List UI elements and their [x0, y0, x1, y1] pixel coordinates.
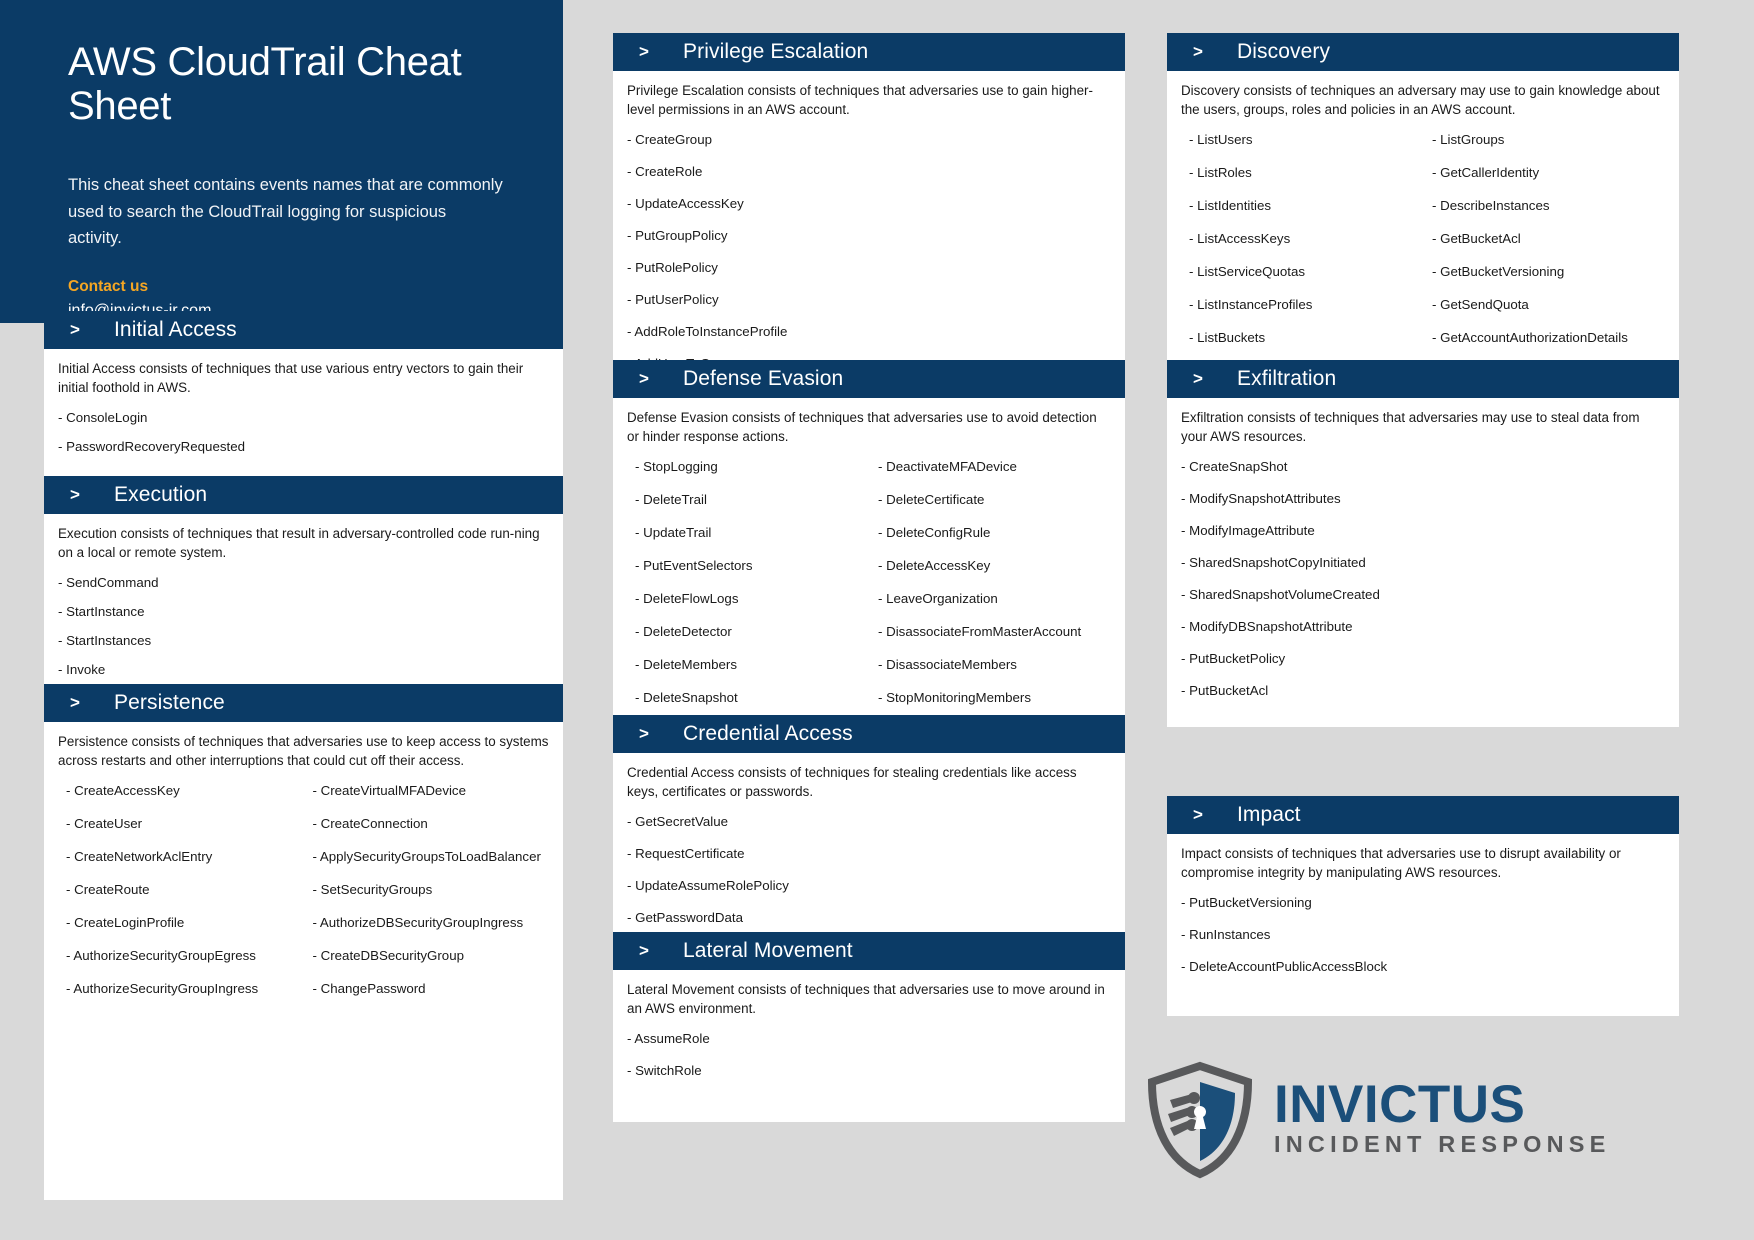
list-item: - GetBucketAcl [1432, 231, 1665, 247]
list-item: - CreateSnapShot [1181, 459, 1665, 475]
card-title-execution: Execution [114, 483, 207, 507]
list-item: - CreateVirtualMFADevice [313, 783, 550, 799]
card-description-persistence: Persistence consists of techniques that … [58, 732, 549, 771]
card-description-defense-evasion: Defense Evasion consists of techniques t… [627, 408, 1111, 447]
header-panel: AWS CloudTrail Cheat Sheet This cheat sh… [0, 0, 563, 323]
card-header-execution[interactable]: > Execution [44, 476, 563, 514]
event-list-exfiltration: - CreateSnapShot - ModifySnapshotAttribu… [1181, 459, 1665, 699]
card-lateral-movement: > Lateral Movement Lateral Movement cons… [613, 932, 1125, 1122]
chevron-right-icon: > [70, 485, 114, 505]
card-description-discovery: Discovery consists of techniques an adve… [1181, 81, 1665, 120]
list-item: - GetSendQuota [1432, 297, 1665, 313]
list-item: - DeleteFlowLogs [635, 591, 868, 607]
chevron-right-icon: > [1193, 42, 1237, 62]
card-title-defense-evasion: Defense Evasion [683, 367, 843, 391]
card-description-initial-access: Initial Access consists of techniques th… [58, 359, 549, 398]
chevron-right-icon: > [639, 941, 683, 961]
list-item: - DeleteSnapshot [635, 690, 868, 706]
event-list-execution: - SendCommand - StartInstance - StartIns… [58, 575, 549, 678]
card-description-credential-access: Credential Access consists of techniques… [627, 763, 1111, 802]
list-item: - PutUserPolicy [627, 292, 1111, 308]
logo-tagline: INCIDENT RESPONSE [1274, 1130, 1611, 1159]
logo-text: INVICTUS INCIDENT RESPONSE [1274, 1080, 1611, 1160]
card-header-impact[interactable]: > Impact [1167, 796, 1679, 834]
list-item: - CreateConnection [313, 816, 550, 832]
card-header-discovery[interactable]: > Discovery [1167, 33, 1679, 71]
list-item: - ListServiceQuotas [1189, 264, 1422, 280]
list-item: - PutGroupPolicy [627, 228, 1111, 244]
card-header-persistence[interactable]: > Persistence [44, 684, 563, 722]
list-item: - PutBucketVersioning [1181, 895, 1665, 911]
card-body-execution: Execution consists of techniques that re… [44, 514, 563, 703]
card-body-impact: Impact consists of techniques that adver… [1167, 834, 1679, 1003]
card-description-privilege-escalation: Privilege Escalation consists of techniq… [627, 81, 1111, 120]
list-item: - CreateDBSecurityGroup [313, 948, 550, 964]
list-item: - DeactivateMFADevice [878, 459, 1111, 475]
list-item: - PutBucketAcl [1181, 683, 1665, 699]
card-description-lateral-movement: Lateral Movement consists of techniques … [627, 980, 1111, 1019]
list-item: - AssumeRole [627, 1031, 1111, 1047]
list-item: - GetAccountAuthorizationDetails [1432, 330, 1665, 346]
list-item: - CreateLoginProfile [66, 915, 303, 931]
list-item: - DeleteMembers [635, 657, 868, 673]
card-header-credential-access[interactable]: > Credential Access [613, 715, 1125, 753]
card-body-defense-evasion: Defense Evasion consists of techniques t… [613, 398, 1125, 735]
cheat-sheet-page: AWS CloudTrail Cheat Sheet This cheat sh… [0, 0, 1754, 1240]
list-item: - UpdateAssumeRolePolicy [627, 878, 1111, 894]
card-privilege-escalation: > Privilege Escalation Privilege Escalat… [613, 33, 1125, 400]
card-initial-access: > Initial Access Initial Access consists… [44, 311, 563, 480]
event-list-discovery: - ListUsers - ListRoles - ListIdentities… [1181, 132, 1665, 363]
event-list-persistence: - CreateAccessKey - CreateUser - CreateN… [58, 783, 549, 1014]
card-header-defense-evasion[interactable]: > Defense Evasion [613, 360, 1125, 398]
card-title-persistence: Persistence [114, 691, 225, 715]
card-title-exfiltration: Exfiltration [1237, 367, 1336, 391]
card-body-persistence: Persistence consists of techniques that … [44, 722, 563, 1026]
list-item: - StartInstances [58, 633, 549, 649]
list-item: - SharedSnapshotCopyInitiated [1181, 555, 1665, 571]
list-item: - CreateNetworkAclEntry [66, 849, 303, 865]
list-item: - DeleteTrail [635, 492, 868, 508]
list-item: - ConsoleLogin [58, 410, 549, 426]
card-body-initial-access: Initial Access consists of techniques th… [44, 349, 563, 480]
card-body-lateral-movement: Lateral Movement consists of techniques … [613, 970, 1125, 1107]
list-item: - DescribeInstances [1432, 198, 1665, 214]
list-item: - CreateRole [627, 164, 1111, 180]
list-item: - UpdateAccessKey [627, 196, 1111, 212]
list-item: - RunInstances [1181, 927, 1665, 943]
list-item: - ListUsers [1189, 132, 1422, 148]
list-item: - StartInstance [58, 604, 549, 620]
card-body-discovery: Discovery consists of techniques an adve… [1167, 71, 1679, 375]
list-item: - ChangePassword [313, 981, 550, 997]
list-item: - GetSecretValue [627, 814, 1111, 830]
list-item: - ListAccessKeys [1189, 231, 1422, 247]
card-persistence: > Persistence Persistence consists of te… [44, 684, 563, 1200]
event-list-privilege-escalation: - CreateGroup - CreateRole - UpdateAcces… [627, 132, 1111, 372]
card-body-privilege-escalation: Privilege Escalation consists of techniq… [613, 71, 1125, 400]
invictus-logo: INVICTUS INCIDENT RESPONSE [1140, 1060, 1680, 1180]
list-item: - SharedSnapshotVolumeCreated [1181, 587, 1665, 603]
event-list-lateral-movement: - AssumeRole - SwitchRole [627, 1031, 1111, 1079]
list-item: - DeleteAccessKey [878, 558, 1111, 574]
chevron-right-icon: > [639, 369, 683, 389]
card-title-impact: Impact [1237, 803, 1301, 827]
list-item: - GetBucketVersioning [1432, 264, 1665, 280]
card-description-execution: Execution consists of techniques that re… [58, 524, 549, 563]
list-item: - ModifySnapshotAttributes [1181, 491, 1665, 507]
list-item: - DeleteDetector [635, 624, 868, 640]
card-title-lateral-movement: Lateral Movement [683, 939, 853, 963]
list-item: - ModifyDBSnapshotAttribute [1181, 619, 1665, 635]
list-item: - SetSecurityGroups [313, 882, 550, 898]
list-item: - AuthorizeDBSecurityGroupIngress [313, 915, 550, 931]
event-list-impact: - PutBucketVersioning - RunInstances - D… [1181, 895, 1665, 975]
card-title-discovery: Discovery [1237, 40, 1330, 64]
card-discovery: > Discovery Discovery consists of techni… [1167, 33, 1679, 375]
list-item: - AuthorizeSecurityGroupEgress [66, 948, 303, 964]
card-title-privilege-escalation: Privilege Escalation [683, 40, 868, 64]
card-description-exfiltration: Exfiltration consists of techniques that… [1181, 408, 1665, 447]
list-item: - CreateGroup [627, 132, 1111, 148]
card-title-credential-access: Credential Access [683, 722, 853, 746]
chevron-right-icon: > [639, 42, 683, 62]
chevron-right-icon: > [639, 724, 683, 744]
page-title: AWS CloudTrail Cheat Sheet [68, 40, 503, 128]
list-item: - SwitchRole [627, 1063, 1111, 1079]
list-item: - GetCallerIdentity [1432, 165, 1665, 181]
list-item: - Invoke [58, 662, 549, 678]
card-execution: > Execution Execution consists of techni… [44, 476, 563, 703]
card-header-privilege-escalation[interactable]: > Privilege Escalation [613, 33, 1125, 71]
chevron-right-icon: > [70, 320, 114, 340]
list-item: - CreateRoute [66, 882, 303, 898]
list-item: - DeleteAccountPublicAccessBlock [1181, 959, 1665, 975]
event-list-initial-access: - ConsoleLogin - PasswordRecoveryRequest… [58, 410, 549, 455]
list-item: - PasswordRecoveryRequested [58, 439, 549, 455]
list-item: - StopMonitoringMembers [878, 690, 1111, 706]
card-header-lateral-movement[interactable]: > Lateral Movement [613, 932, 1125, 970]
list-item: - DeleteCertificate [878, 492, 1111, 508]
list-item: - DeleteConfigRule [878, 525, 1111, 541]
shield-icon [1140, 1060, 1260, 1180]
list-item: - ApplySecurityGroupsToLoadBalancer [313, 849, 550, 865]
list-item: - AddRoleToInstanceProfile [627, 324, 1111, 340]
chevron-right-icon: > [1193, 805, 1237, 825]
card-header-initial-access[interactable]: > Initial Access [44, 311, 563, 349]
list-item: - CreateUser [66, 816, 303, 832]
logo-name: INVICTUS [1274, 1080, 1611, 1130]
list-item: - ListBuckets [1189, 330, 1422, 346]
list-item: - UpdateTrail [635, 525, 868, 541]
card-body-credential-access: Credential Access consists of techniques… [613, 753, 1125, 954]
event-list-defense-evasion: - StopLogging - DeleteTrail - UpdateTrai… [627, 459, 1111, 723]
list-item: - ListRoles [1189, 165, 1422, 181]
list-item: - SendCommand [58, 575, 549, 591]
card-impact: > Impact Impact consists of techniques t… [1167, 796, 1679, 1016]
list-item: - GetPasswordData [627, 910, 1111, 926]
list-item: - CreateAccessKey [66, 783, 303, 799]
list-item: - PutRolePolicy [627, 260, 1111, 276]
list-item: - RequestCertificate [627, 846, 1111, 862]
list-item: - LeaveOrganization [878, 591, 1111, 607]
card-defense-evasion: > Defense Evasion Defense Evasion consis… [613, 360, 1125, 735]
card-description-impact: Impact consists of techniques that adver… [1181, 844, 1665, 883]
list-item: - ListInstanceProfiles [1189, 297, 1422, 313]
list-item: - ModifyImageAttribute [1181, 523, 1665, 539]
list-item: - StopLogging [635, 459, 868, 475]
list-item: - AuthorizeSecurityGroupIngress [66, 981, 303, 997]
list-item: - PutEventSelectors [635, 558, 868, 574]
chevron-right-icon: > [1193, 369, 1237, 389]
list-item: - DisassociateFromMasterAccount [878, 624, 1111, 640]
list-item: - DisassociateMembers [878, 657, 1111, 673]
event-list-credential-access: - GetSecretValue - RequestCertificate - … [627, 814, 1111, 926]
chevron-right-icon: > [70, 693, 114, 713]
contact-label: Contact us [68, 278, 503, 296]
list-item: - PutBucketPolicy [1181, 651, 1665, 667]
page-description: This cheat sheet contains events names t… [68, 172, 503, 252]
list-item: - ListGroups [1432, 132, 1665, 148]
card-credential-access: > Credential Access Credential Access co… [613, 715, 1125, 954]
card-body-exfiltration: Exfiltration consists of techniques that… [1167, 398, 1679, 727]
list-item: - ListIdentities [1189, 198, 1422, 214]
card-header-exfiltration[interactable]: > Exfiltration [1167, 360, 1679, 398]
card-title-initial-access: Initial Access [114, 318, 237, 342]
card-exfiltration: > Exfiltration Exfiltration consists of … [1167, 360, 1679, 727]
